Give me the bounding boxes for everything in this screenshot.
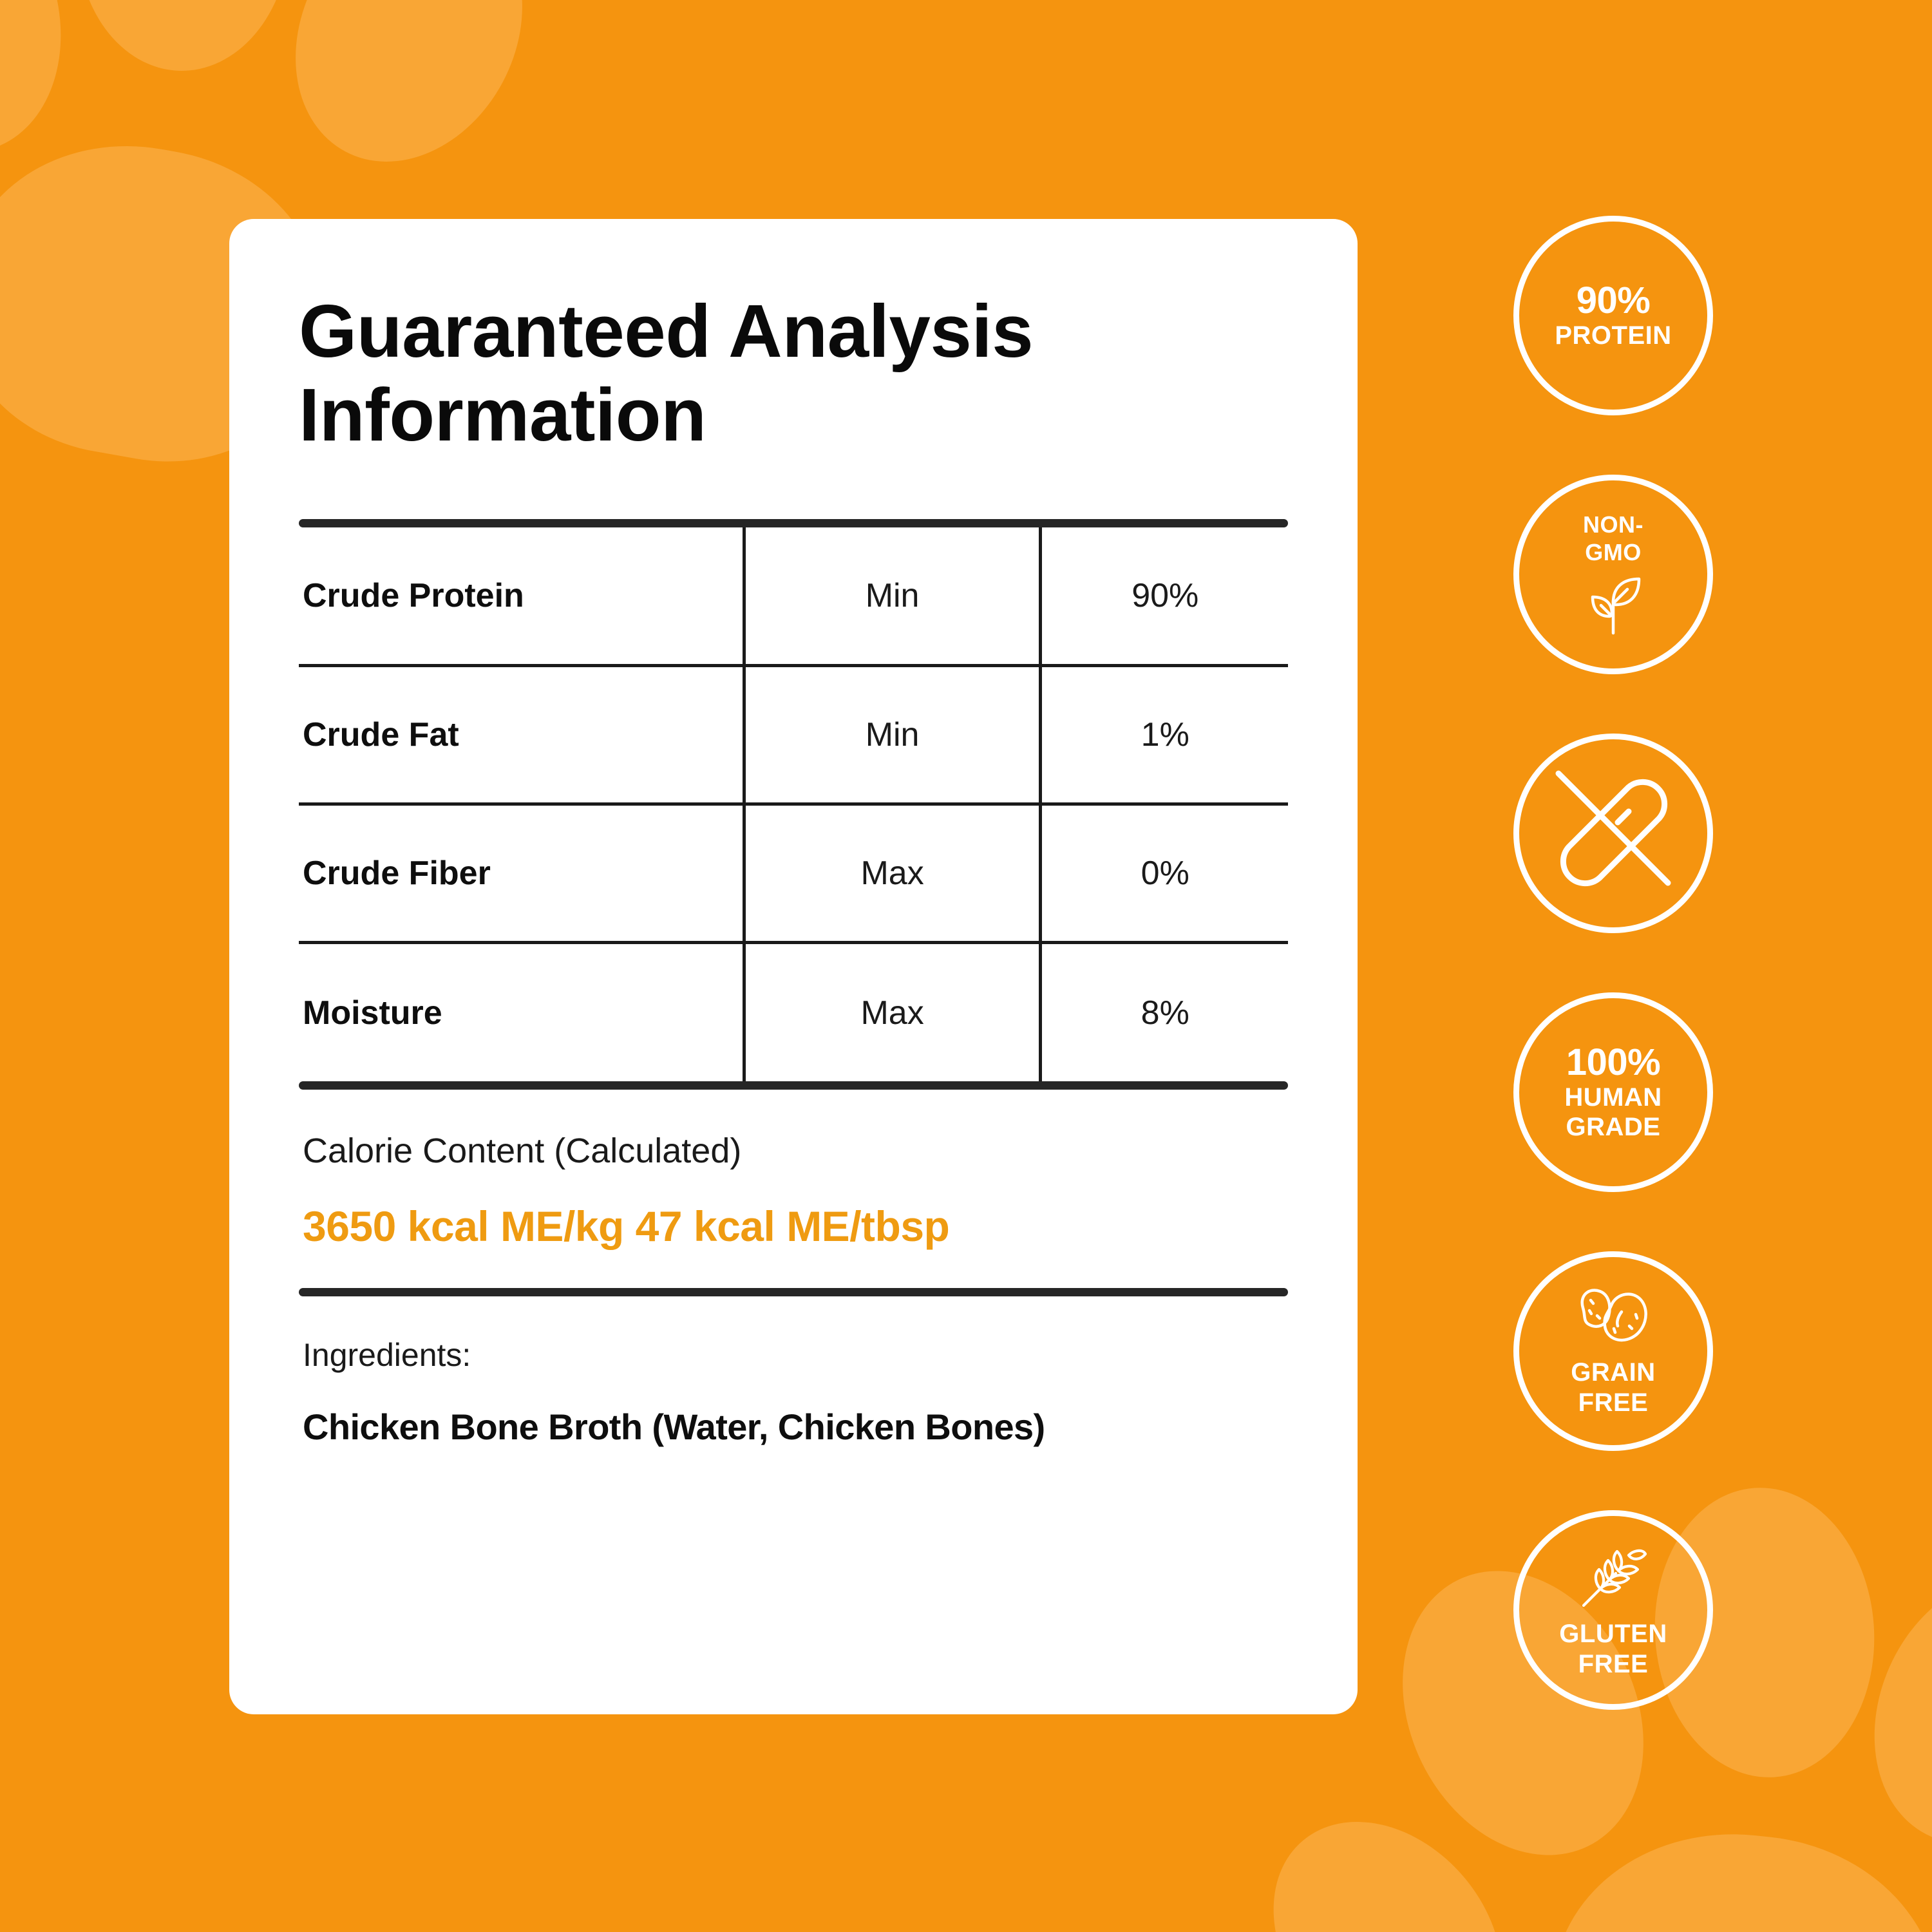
qualifier-label: Min (866, 577, 920, 614)
plant-leaf-icon (1581, 574, 1645, 639)
calorie-content-label: Calorie Content (Calculated) (303, 1131, 1288, 1171)
value-label: 8% (1141, 994, 1189, 1032)
badge-non-gmo-label-top: NON- (1583, 513, 1643, 537)
badge-grain-free: GRAIN FREE (1513, 1251, 1713, 1451)
nutrient-label: Moisture (303, 994, 442, 1032)
page-title: Guaranteed AnalysisInformation (299, 290, 1288, 457)
paw-toe (252, 0, 567, 202)
paw-pad (1535, 1816, 1932, 1932)
qualifier-label: Max (860, 994, 923, 1032)
page-title-line-1: Guaranteed Analysis (299, 289, 1033, 373)
table-cell-value: 0% (1041, 804, 1288, 943)
table-cell-nutrient: Crude Protein (299, 527, 744, 666)
badge-gluten-free: GLUTEN FREE (1513, 1510, 1713, 1710)
badge-human-grade-percent: 100% (1566, 1044, 1660, 1081)
table-row: Crude Protein Min 90% (299, 527, 1288, 666)
badge-gluten-free-label-top: GLUTEN (1559, 1620, 1667, 1647)
badge-protein: 90% PROTEIN (1513, 216, 1713, 415)
table-cell-qualifier: Max (744, 804, 1041, 943)
beans-icon (1575, 1286, 1651, 1351)
badge-gluten-free-label-bottom: FREE (1578, 1651, 1649, 1678)
paw-toe (0, 0, 92, 178)
table-cell-qualifier: Max (744, 943, 1041, 1081)
paw-toe (1226, 1776, 1549, 1932)
calorie-content-value: 3650 kcal ME/kg 47 kcal ME/tbsp (303, 1202, 1288, 1251)
table-cell-qualifier: Min (744, 666, 1041, 804)
divider-bottom (299, 1288, 1288, 1296)
value-label: 90% (1132, 577, 1198, 614)
badge-grain-free-label-bottom: FREE (1578, 1389, 1649, 1416)
table-cell-value: 8% (1041, 943, 1288, 1081)
badge-non-gmo-label-bottom: GMO (1585, 540, 1642, 565)
table-cell-nutrient: Moisture (299, 943, 744, 1081)
calorie-content-section: Calorie Content (Calculated) 3650 kcal M… (299, 1090, 1288, 1288)
divider-middle (299, 1081, 1288, 1090)
badge-protein-percent: 90% (1577, 282, 1651, 319)
table-cell-qualifier: Min (744, 527, 1041, 666)
table-row: Moisture Max 8% (299, 943, 1288, 1081)
badge-no-pill (1513, 734, 1713, 933)
guaranteed-analysis-card: Guaranteed AnalysisInformation Crude Pro… (229, 219, 1358, 1714)
value-label: 1% (1141, 716, 1189, 753)
table-cell-value: 1% (1041, 666, 1288, 804)
badge-human-grade: 100% HUMAN GRADE (1513, 992, 1713, 1192)
ingredients-value: Chicken Bone Broth (Water, Chicken Bones… (303, 1406, 1288, 1448)
paw-toe (73, 0, 294, 75)
ingredients-label: Ingredients: (303, 1336, 1288, 1374)
wheat-icon (1578, 1542, 1648, 1613)
divider-top (299, 519, 1288, 527)
badge-non-gmo: NON- GMO (1513, 475, 1713, 674)
nutrient-label: Crude Fat (303, 716, 459, 753)
qualifier-label: Max (860, 855, 923, 892)
badge-protein-label: PROTEIN (1555, 322, 1671, 349)
table-cell-value: 90% (1041, 527, 1288, 666)
ingredients-section: Ingredients: Chicken Bone Broth (Water, … (299, 1296, 1288, 1448)
nutrient-label: Crude Protein (303, 577, 524, 614)
value-label: 0% (1141, 855, 1189, 892)
nutrient-label: Crude Fiber (303, 855, 491, 892)
certification-badge-column: 90% PROTEIN NON- GMO 100% HUMA (1491, 216, 1736, 1769)
table-cell-nutrient: Crude Fat (299, 666, 744, 804)
badge-human-grade-label-top: HUMAN (1564, 1084, 1662, 1111)
badge-grain-free-label-top: GRAIN (1571, 1359, 1655, 1386)
no-pill-icon (1546, 764, 1681, 903)
table-cell-nutrient: Crude Fiber (299, 804, 744, 943)
table-row: Crude Fat Min 1% (299, 666, 1288, 804)
page-title-line-2: Information (299, 373, 706, 457)
qualifier-label: Min (866, 716, 920, 753)
table-row: Crude Fiber Max 0% (299, 804, 1288, 943)
paw-toe (1833, 1540, 1932, 1879)
guaranteed-analysis-table: Crude Protein Min 90% Crude Fat Min 1% C… (299, 527, 1288, 1081)
badge-human-grade-label-bottom: GRADE (1566, 1113, 1661, 1141)
